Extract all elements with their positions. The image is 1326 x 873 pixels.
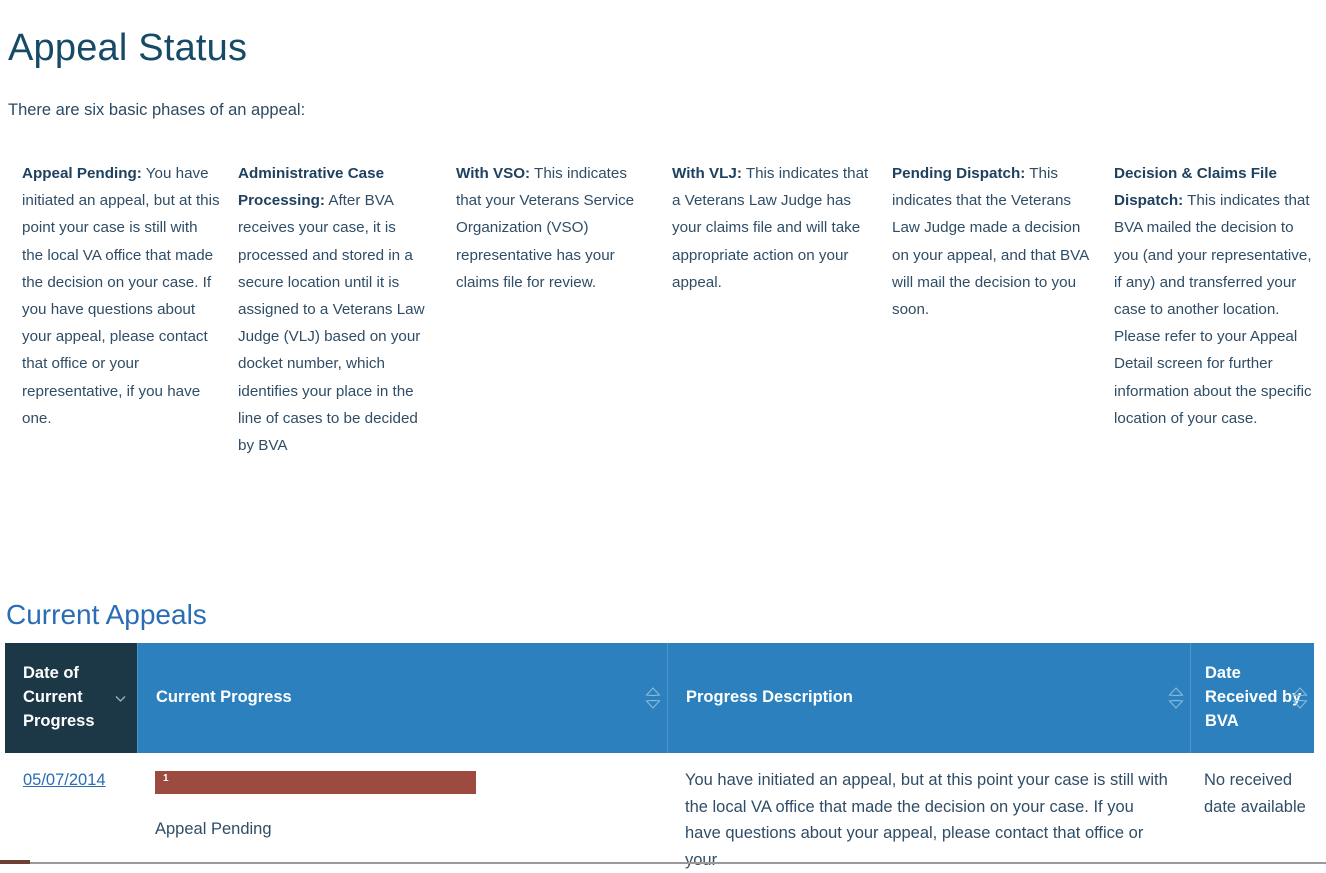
phase-description: This indicates that the Veterans Law Jud… <box>892 165 1088 318</box>
progress-stage-label: Appeal Pending <box>155 816 667 843</box>
column-header-progress-description[interactable]: Progress Description <box>667 643 1190 753</box>
phase-term: Pending Dispatch: <box>892 165 1025 182</box>
table-header-row: Date of Current Progress Current Progres… <box>5 643 1314 753</box>
cell-date-of-current-progress: 05/07/2014 <box>5 767 137 794</box>
appeal-phases-list: Appeal Pending: You have initiated an ap… <box>22 160 1322 459</box>
phase-description: This indicates that your Veterans Servic… <box>456 165 634 291</box>
cell-date-received-by-bva: No received date available <box>1190 767 1314 820</box>
column-header-date-received-by-bva[interactable]: Date Received by BVA <box>1190 643 1314 753</box>
chevron-down-icon <box>114 692 127 705</box>
phase-term: With VLJ: <box>672 165 742 182</box>
section-title-current-appeals: Current Appeals <box>6 599 207 631</box>
progress-bar-value: 1 <box>163 774 169 784</box>
cell-progress-description: You have initiated an appeal, but at thi… <box>667 767 1190 873</box>
current-appeals-table: Date of Current Progress Current Progres… <box>5 643 1314 873</box>
sort-diamond-icon[interactable] <box>1292 687 1308 709</box>
column-header-label: Progress Description <box>686 686 853 710</box>
phase-item-appeal-pending: Appeal Pending: You have initiated an ap… <box>22 160 238 432</box>
phase-description: This indicates that BVA mailed the decis… <box>1114 192 1312 427</box>
viewport-bottom-edge <box>0 862 1326 864</box>
table-row: 05/07/2014 1 Appeal Pending You have ini… <box>5 753 1314 873</box>
phase-term: With VSO: <box>456 165 530 182</box>
column-header-label: Date of Current Progress <box>23 662 106 734</box>
column-header-date-of-current-progress[interactable]: Date of Current Progress <box>5 643 137 753</box>
phase-item-decision-claims-file-dispatch: Decision & Claims File Dispatch: This in… <box>1114 160 1322 432</box>
appeal-date-link[interactable]: 05/07/2014 <box>23 771 106 789</box>
intro-text: There are six basic phases of an appeal: <box>8 101 305 121</box>
phase-item-administrative-case-processing: Administrative Case Processing: After BV… <box>238 160 456 459</box>
table-body: 05/07/2014 1 Appeal Pending You have ini… <box>5 753 1314 873</box>
phase-item-pending-dispatch: Pending Dispatch: This indicates that th… <box>892 160 1114 323</box>
cell-current-progress: 1 Appeal Pending <box>137 767 667 843</box>
sort-diamond-icon[interactable] <box>1168 687 1184 709</box>
viewport-bottom-edge-accent <box>0 860 30 864</box>
page-title: Appeal Status <box>8 27 247 71</box>
phase-description: You have initiated an appeal, but at thi… <box>22 165 220 427</box>
column-header-label: Current Progress <box>156 686 292 710</box>
column-header-current-progress[interactable]: Current Progress <box>137 643 667 753</box>
phase-description: After BVA receives your case, it is proc… <box>238 192 425 454</box>
phase-description: This indicates that a Veterans Law Judge… <box>672 165 868 291</box>
phase-item-with-vlj: With VLJ: This indicates that a Veterans… <box>672 160 892 296</box>
sort-diamond-icon[interactable] <box>645 687 661 709</box>
progress-bar: 1 <box>155 771 476 794</box>
phase-item-with-vso: With VSO: This indicates that your Veter… <box>456 160 672 296</box>
phase-term: Appeal Pending: <box>22 165 142 182</box>
